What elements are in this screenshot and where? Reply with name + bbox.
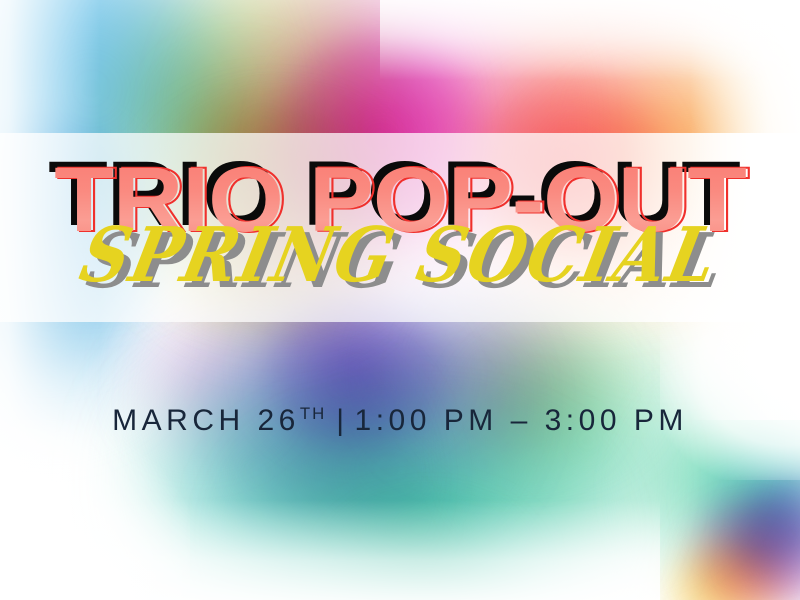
event-datetime: MARCH 26TH|1:00 PM – 3:00 PM — [0, 404, 800, 438]
subtitle-text: SPRING SOCIAL — [0, 217, 800, 292]
watercolor-blob-purple-br — [740, 470, 800, 600]
watercolor-edge-fade-bottom — [0, 500, 660, 600]
watercolor-blob-teal-left — [120, 370, 400, 590]
watercolor-blob-bottom-accent — [330, 520, 530, 600]
datetime-separator: | — [336, 404, 348, 438]
flyer-canvas: TRIO POP-OUT TRIO POP-OUT TRIO POP-OUT S… — [0, 0, 800, 600]
watercolor-edge-fade-top — [380, 0, 800, 80]
watercolor-blob-yellow-br — [665, 540, 785, 600]
event-time: 1:00 PM – 3:00 PM — [355, 404, 688, 437]
event-date: MARCH 26 — [112, 404, 300, 437]
watercolor-blob-cyan-br — [700, 430, 800, 570]
event-date-ordinal: TH — [300, 404, 326, 423]
subtitle: SPRING SOCIAL SPRING SOCIAL — [0, 222, 800, 312]
watercolor-blob-mint-right — [470, 330, 750, 560]
watercolor-blob-coral-br — [700, 530, 800, 600]
watercolor-edge-fade-midright — [660, 300, 800, 480]
watercolor-edge-fade-bottomleft — [0, 420, 190, 600]
watercolor-blob-magenta-br — [690, 490, 800, 600]
watercolor-blob-teal-main — [150, 340, 630, 600]
watercolor-blob-teal-bottom — [230, 440, 610, 600]
